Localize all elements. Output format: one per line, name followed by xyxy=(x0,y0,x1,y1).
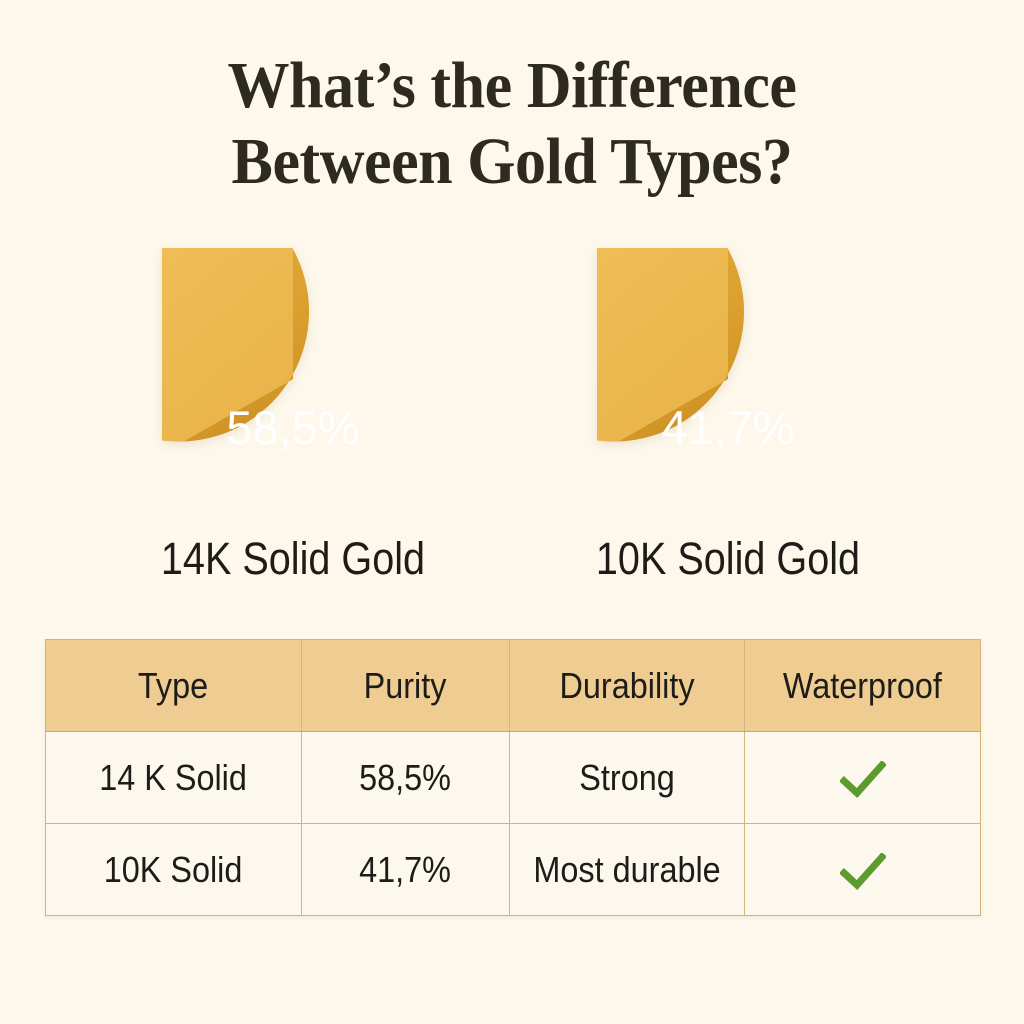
cell-durability: Most durable xyxy=(510,824,745,916)
pie-caption-14k: 14K Solid Gold xyxy=(101,534,485,584)
table-header-type: Type xyxy=(46,640,302,732)
cell-purity: 58,5% xyxy=(302,732,510,824)
chart-unit-10k: 41,7% 10K Solid Gold xyxy=(510,248,946,584)
comparison-table: Type Purity Durability Waterproof 14 K S… xyxy=(45,639,981,916)
pie-chart-10k-svg xyxy=(597,248,859,510)
table-row: 14 K Solid 58,5% Strong xyxy=(46,732,981,824)
cell-waterproof xyxy=(745,824,981,916)
check-icon xyxy=(840,853,886,891)
pie-caption-10k: 10K Solid Gold xyxy=(536,534,920,584)
pie-slice-light-10k xyxy=(597,248,728,442)
page-title: What’s the Difference Between Gold Types… xyxy=(0,48,1024,200)
pie-chart-section: 58,5% 14K Solid Gold xyxy=(0,248,1024,600)
cell-type: 14 K Solid xyxy=(46,732,302,824)
pie-chart-10k: 41,7% xyxy=(597,248,859,510)
cell-durability: Strong xyxy=(510,732,745,824)
table-header-purity: Purity xyxy=(302,640,510,732)
table-header-durability: Durability xyxy=(510,640,745,732)
table-row: 10K Solid 41,7% Most durable xyxy=(46,824,981,916)
pie-chart-14k-svg xyxy=(162,248,424,510)
cell-purity: 41,7% xyxy=(302,824,510,916)
check-icon xyxy=(840,761,886,799)
page-title-line-2: Between Gold Types? xyxy=(31,124,994,200)
cell-type: 10K Solid xyxy=(46,824,302,916)
pie-chart-14k: 58,5% xyxy=(162,248,424,510)
pie-slice-light-14k xyxy=(162,248,293,442)
chart-unit-14k: 58,5% 14K Solid Gold xyxy=(75,248,511,584)
table-header-row: Type Purity Durability Waterproof xyxy=(46,640,981,732)
cell-waterproof xyxy=(745,732,981,824)
table-header-waterproof: Waterproof xyxy=(745,640,981,732)
page-title-line-1: What’s the Difference xyxy=(31,48,994,124)
